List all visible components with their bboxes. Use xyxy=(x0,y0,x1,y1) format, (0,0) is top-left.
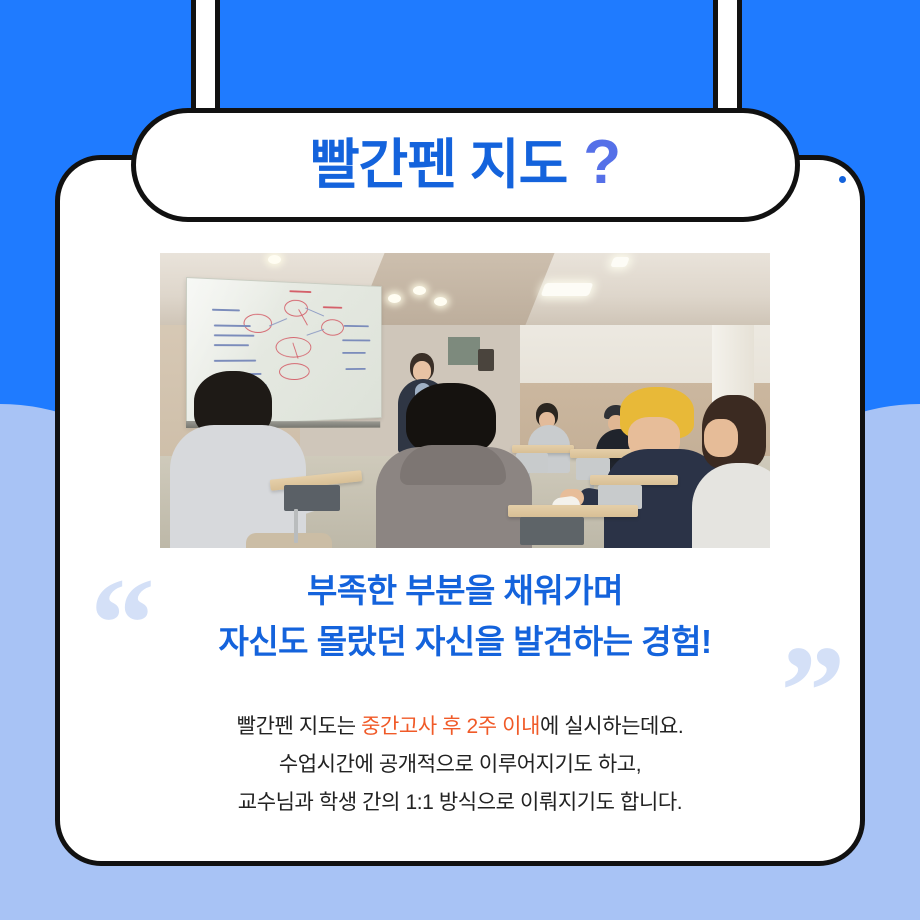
photo-board-text-4 xyxy=(214,344,249,346)
classroom-photo xyxy=(160,253,770,548)
body-line-1-post: 에 실시하는데요. xyxy=(540,715,683,738)
photo-board-node-2 xyxy=(244,313,273,333)
photo-downlight-2 xyxy=(413,286,426,295)
photo-board-text-13 xyxy=(345,368,365,370)
photo-student-fc-hood xyxy=(400,445,506,485)
photo-professor-face xyxy=(413,361,431,381)
body-paragraph: 빨간펜 지도는 중간고사 후 2주 이내에 실시하는데요. 수업시간에 공개적으… xyxy=(60,708,860,823)
body-line-1-pre: 빨간펜 지도는 xyxy=(237,715,361,738)
photo-board-text-12 xyxy=(342,352,366,354)
photo-board-text-3 xyxy=(214,334,254,336)
body-line-3: 교수님과 학생 간의 1:1 방식으로 이뤄지기도 합니다. xyxy=(60,784,860,822)
photo-ceiling-panel xyxy=(355,253,554,325)
question-mark-icon: ? xyxy=(583,132,621,194)
quote-text: 부족한 부분을 채워가며 자신도 몰랐던 자신을 발견하는 경험! xyxy=(60,565,865,667)
poster-canvas: “ “ 부족한 부분을 채워가며 자신도 몰랐던 자신을 발견하는 경험! 빨간… xyxy=(0,0,920,920)
hanging-string-left xyxy=(191,0,220,122)
photo-desk-mid-right xyxy=(590,475,678,485)
photo-downlight-1 xyxy=(268,255,281,264)
photo-student-xr-torso xyxy=(692,463,770,548)
photo-board-text-5 xyxy=(214,360,256,362)
photo-board-node-3 xyxy=(321,319,344,336)
photo-ceiling-light-1 xyxy=(541,283,594,296)
photo-downlight-3 xyxy=(388,294,401,303)
photo-downlight-4 xyxy=(434,297,447,306)
photo-student-xr-face xyxy=(704,419,738,457)
quote-line-1: 부족한 부분을 채워가며 xyxy=(60,565,865,616)
classroom-photo-illustration xyxy=(160,253,770,548)
photo-desk-front-left-leg xyxy=(294,509,298,543)
body-line-1: 빨간펜 지도는 중간고사 후 2주 이내에 실시하는데요. xyxy=(60,708,860,746)
page-title: 빨간펜 지도 xyxy=(310,138,567,192)
quote-block: “ “ 부족한 부분을 채워가며 자신도 몰랐던 자신을 발견하는 경험! xyxy=(60,565,865,693)
hanging-string-right xyxy=(713,0,742,122)
body-line-2: 수업시간에 공개적으로 이루어지기도 하고, xyxy=(60,746,860,784)
title-pill: 빨간펜 지도 ? xyxy=(131,108,800,222)
photo-student-fl-lap xyxy=(246,533,332,548)
photo-desk-lower-right xyxy=(508,505,638,517)
photo-interior-window xyxy=(448,337,480,365)
quote-line-2: 자신도 몰랐던 자신을 발견하는 경험! xyxy=(60,616,865,667)
photo-desk-front-left-box xyxy=(284,485,340,511)
photo-desk-back-left xyxy=(512,445,574,453)
photo-desk-lower-right-box xyxy=(520,517,584,545)
body-line-1-highlight: 중간고사 후 2주 이내 xyxy=(361,715,540,738)
photo-board-text-11 xyxy=(342,339,370,341)
photo-wall-speaker xyxy=(478,349,494,371)
content-card: “ “ 부족한 부분을 채워가며 자신도 몰랐던 자신을 발견하는 경험! 빨간… xyxy=(55,155,865,866)
decorative-dot xyxy=(839,176,846,183)
